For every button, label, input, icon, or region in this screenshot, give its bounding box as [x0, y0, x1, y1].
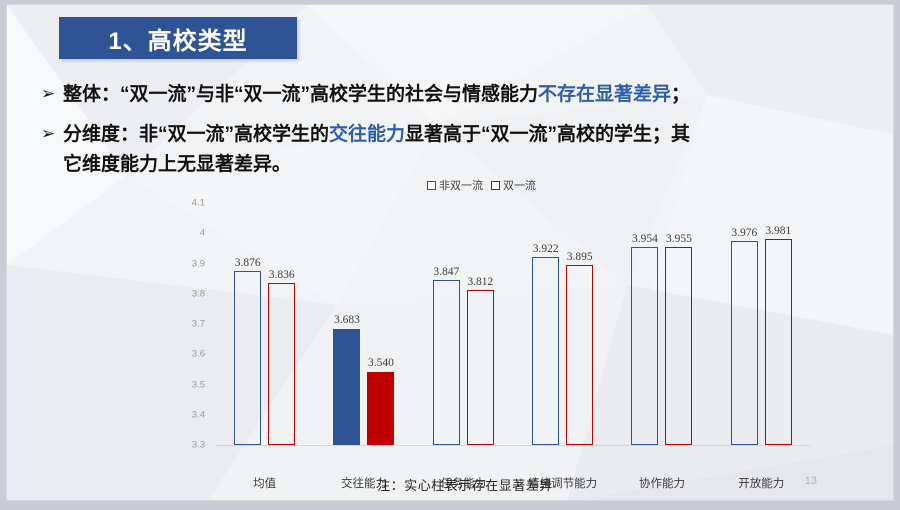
chart-bars: 3.6833.540: [314, 203, 413, 445]
y-axis-tick: 3.8: [192, 288, 205, 299]
y-axis-tick: 3.5: [192, 379, 205, 390]
chart-bar-groups: 3.8763.8363.6833.5403.8473.8123.9223.895…: [215, 203, 811, 445]
legend-label-series-2: 双一流: [503, 177, 536, 193]
chart-bars: 3.9543.955: [612, 203, 711, 445]
chart-bar[interactable]: 3.955: [665, 247, 692, 445]
chart-bar-value-label: 3.895: [567, 251, 593, 263]
y-axis-tick: 3.3: [192, 440, 205, 451]
bullet-1-seg-1: 整体：“双一流”与非“双一流”高校学生的社会与情感能力: [63, 84, 538, 105]
y-axis-tick: 4.1: [192, 198, 205, 209]
chart-bar-value-label: 3.981: [765, 225, 791, 237]
y-axis-tick: 4: [200, 228, 205, 239]
legend-item-series-1: 非双一流: [427, 177, 483, 193]
y-axis-tick: 3.6: [192, 349, 205, 360]
chart-bar-group: 3.9223.895: [513, 203, 612, 445]
chart-bar-value-label: 3.540: [368, 357, 394, 369]
y-axis-tick: 3.7: [192, 319, 205, 330]
chart-bar-value-label: 3.812: [467, 276, 493, 288]
bullet-arrow-icon: ➢: [41, 121, 63, 147]
legend-label-series-1: 非双一流: [439, 177, 483, 193]
chart-bars: 3.8473.812: [414, 203, 513, 445]
chart-bar[interactable]: 3.981: [765, 239, 792, 445]
bullet-2-continuation-text: 它维度能力上无显著差异。: [63, 154, 291, 175]
bullet-1-text: 整体：“双一流”与非“双一流”高校学生的社会与情感能力不存在显著差异；: [63, 81, 690, 109]
slide-frame: 1、高校类型 ➢ 整体：“双一流”与非“双一流”高校学生的社会与情感能力不存在显…: [6, 4, 894, 501]
chart-bar-value-label: 3.976: [731, 227, 757, 239]
chart-bar[interactable]: 3.954: [631, 247, 658, 445]
chart-y-axis: 4.143.93.83.73.63.53.43.3: [177, 203, 209, 445]
chart-bar-group: 3.8473.812: [414, 203, 513, 445]
chart-bar[interactable]: 3.683: [333, 329, 360, 445]
bullet-2-text: 分维度：非“双一流”高校学生的交往能力显著高于“双一流”高校的学生；其: [63, 121, 690, 149]
y-axis-tick: 3.9: [192, 258, 205, 269]
chart-plot-area: 3.8763.8363.6833.5403.8473.8123.9223.895…: [215, 203, 811, 446]
legend-swatch-icon: [491, 181, 500, 190]
chart-bar[interactable]: 3.847: [433, 280, 460, 445]
chart-bar[interactable]: 3.876: [234, 271, 261, 445]
chart-bar-value-label: 3.836: [269, 269, 295, 281]
bullet-item-2: ➢ 分维度：非“双一流”高校学生的交往能力显著高于“双一流”高校的学生；其: [41, 121, 690, 149]
chart-bar-group: 3.8763.836: [215, 203, 314, 445]
chart-bar[interactable]: 3.812: [467, 290, 494, 445]
bullet-2-seg-1: 分维度：非“双一流”高校学生的: [63, 124, 329, 145]
y-axis-tick: 3.4: [192, 409, 205, 420]
chart-bar-value-label: 3.955: [666, 233, 692, 245]
chart-bar-group: 3.9763.981: [712, 203, 811, 445]
chart-bar-value-label: 3.876: [235, 257, 261, 269]
chart-footnote-text: 注：实心柱表示存在显著差异: [347, 478, 553, 493]
bar-chart: 非双一流 双一流 4.143.93.83.73.63.53.43.3 3.876…: [177, 175, 817, 475]
chart-bars: 3.8763.836: [215, 203, 314, 445]
chart-bar-group: 3.9543.955: [612, 203, 711, 445]
chart-footnote: 注：实心柱表示存在显著差异: [7, 475, 893, 494]
bullet-2-highlight: 交往能力: [329, 124, 405, 145]
chart-legend: 非双一流 双一流: [427, 177, 536, 193]
chart-bar-value-label: 3.847: [433, 266, 459, 278]
page-title: 1、高校类型: [108, 21, 247, 56]
chart-bar[interactable]: 3.895: [566, 265, 593, 445]
chart-bar[interactable]: 3.540: [367, 372, 394, 445]
chart-bar-value-label: 3.954: [632, 233, 658, 245]
bullet-1-seg-3: ；: [671, 84, 690, 105]
chart-bar-group: 3.6833.540: [314, 203, 413, 445]
legend-item-series-2: 双一流: [491, 177, 536, 193]
page-number: 13: [805, 475, 817, 487]
bullet-arrow-icon: ➢: [41, 81, 63, 107]
chart-bar[interactable]: 3.976: [731, 241, 758, 445]
chart-bar-value-label: 3.683: [334, 314, 360, 326]
chart-bars: 3.9763.981: [712, 203, 811, 445]
slide-root: 1、高校类型 ➢ 整体：“双一流”与非“双一流”高校学生的社会与情感能力不存在显…: [0, 0, 900, 510]
bullet-2-seg-3: 显著高于“双一流”高校的学生；其: [405, 124, 690, 145]
chart-plot: 4.143.93.83.73.63.53.43.3 3.8763.8363.68…: [177, 203, 817, 445]
bullet-1-highlight: 不存在显著差异: [538, 84, 671, 105]
chart-bars: 3.9223.895: [513, 203, 612, 445]
chart-bar[interactable]: 3.922: [532, 257, 559, 445]
legend-swatch-icon: [427, 181, 436, 190]
chart-bar[interactable]: 3.836: [268, 283, 295, 445]
bullet-item-1: ➢ 整体：“双一流”与非“双一流”高校学生的社会与情感能力不存在显著差异；: [41, 81, 690, 109]
chart-bar-value-label: 3.922: [533, 243, 559, 255]
slide-title-banner: 1、高校类型: [59, 17, 297, 59]
